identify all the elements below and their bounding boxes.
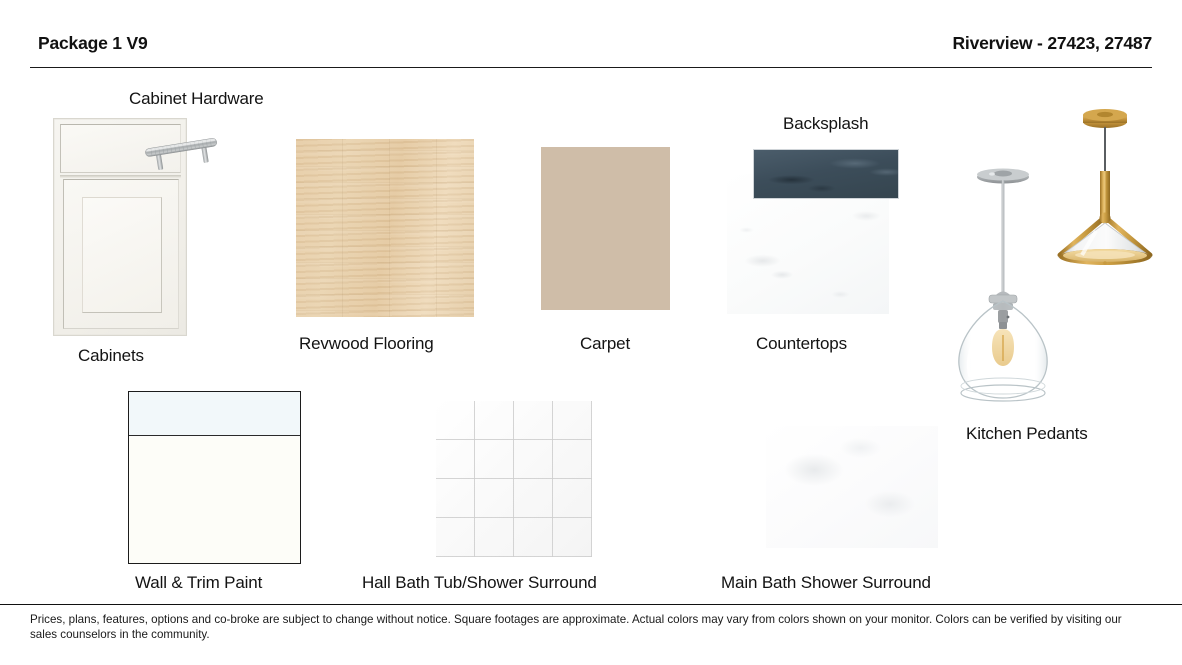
cabinet-door-frame: [63, 179, 179, 329]
paint-trim-color: [129, 438, 300, 564]
cabinet-drawer-front: [60, 124, 181, 173]
flooring-swatch[interactable]: [296, 139, 474, 317]
page-title: Package 1 V9: [38, 33, 148, 54]
label-kitchen-pendants: Kitchen Pedants: [966, 424, 1088, 444]
label-hall-bath-surround: Hall Bath Tub/Shower Surround: [362, 573, 597, 593]
cabinets-swatch[interactable]: [53, 118, 187, 336]
label-cabinet-hardware: Cabinet Hardware: [129, 89, 264, 109]
header-divider: [30, 67, 1152, 68]
cabinet-recessed-panel: [82, 197, 162, 313]
page-header: Package 1 V9 Riverview - 27423, 27487: [0, 0, 1182, 70]
paint-wall-color: [129, 392, 300, 436]
label-flooring: Revwood Flooring: [299, 334, 434, 354]
label-carpet: Carpet: [580, 334, 630, 354]
label-cabinets: Cabinets: [78, 346, 144, 366]
main-bath-surround-swatch[interactable]: [766, 426, 938, 548]
label-countertops: Countertops: [756, 334, 847, 354]
cabinet-reveal-gap: [60, 175, 181, 178]
brass-white-cone-pendant-icon[interactable]: [1030, 105, 1180, 295]
hall-bath-tile-swatch[interactable]: [436, 401, 592, 557]
backsplash-swatch[interactable]: [753, 149, 899, 199]
label-wall-trim-paint: Wall & Trim Paint: [135, 573, 262, 593]
community-name: Riverview - 27423, 27487: [952, 33, 1152, 54]
label-backsplash: Backsplash: [783, 114, 868, 134]
kitchen-pendants-group: OR: [940, 100, 1182, 430]
disclaimer-text: Prices, plans, features, options and co-…: [30, 612, 1145, 643]
label-main-bath-surround: Main Bath Shower Surround: [721, 573, 931, 593]
carpet-swatch[interactable]: [541, 147, 670, 310]
footer-divider: [0, 604, 1182, 605]
paint-swatch[interactable]: [128, 391, 301, 564]
